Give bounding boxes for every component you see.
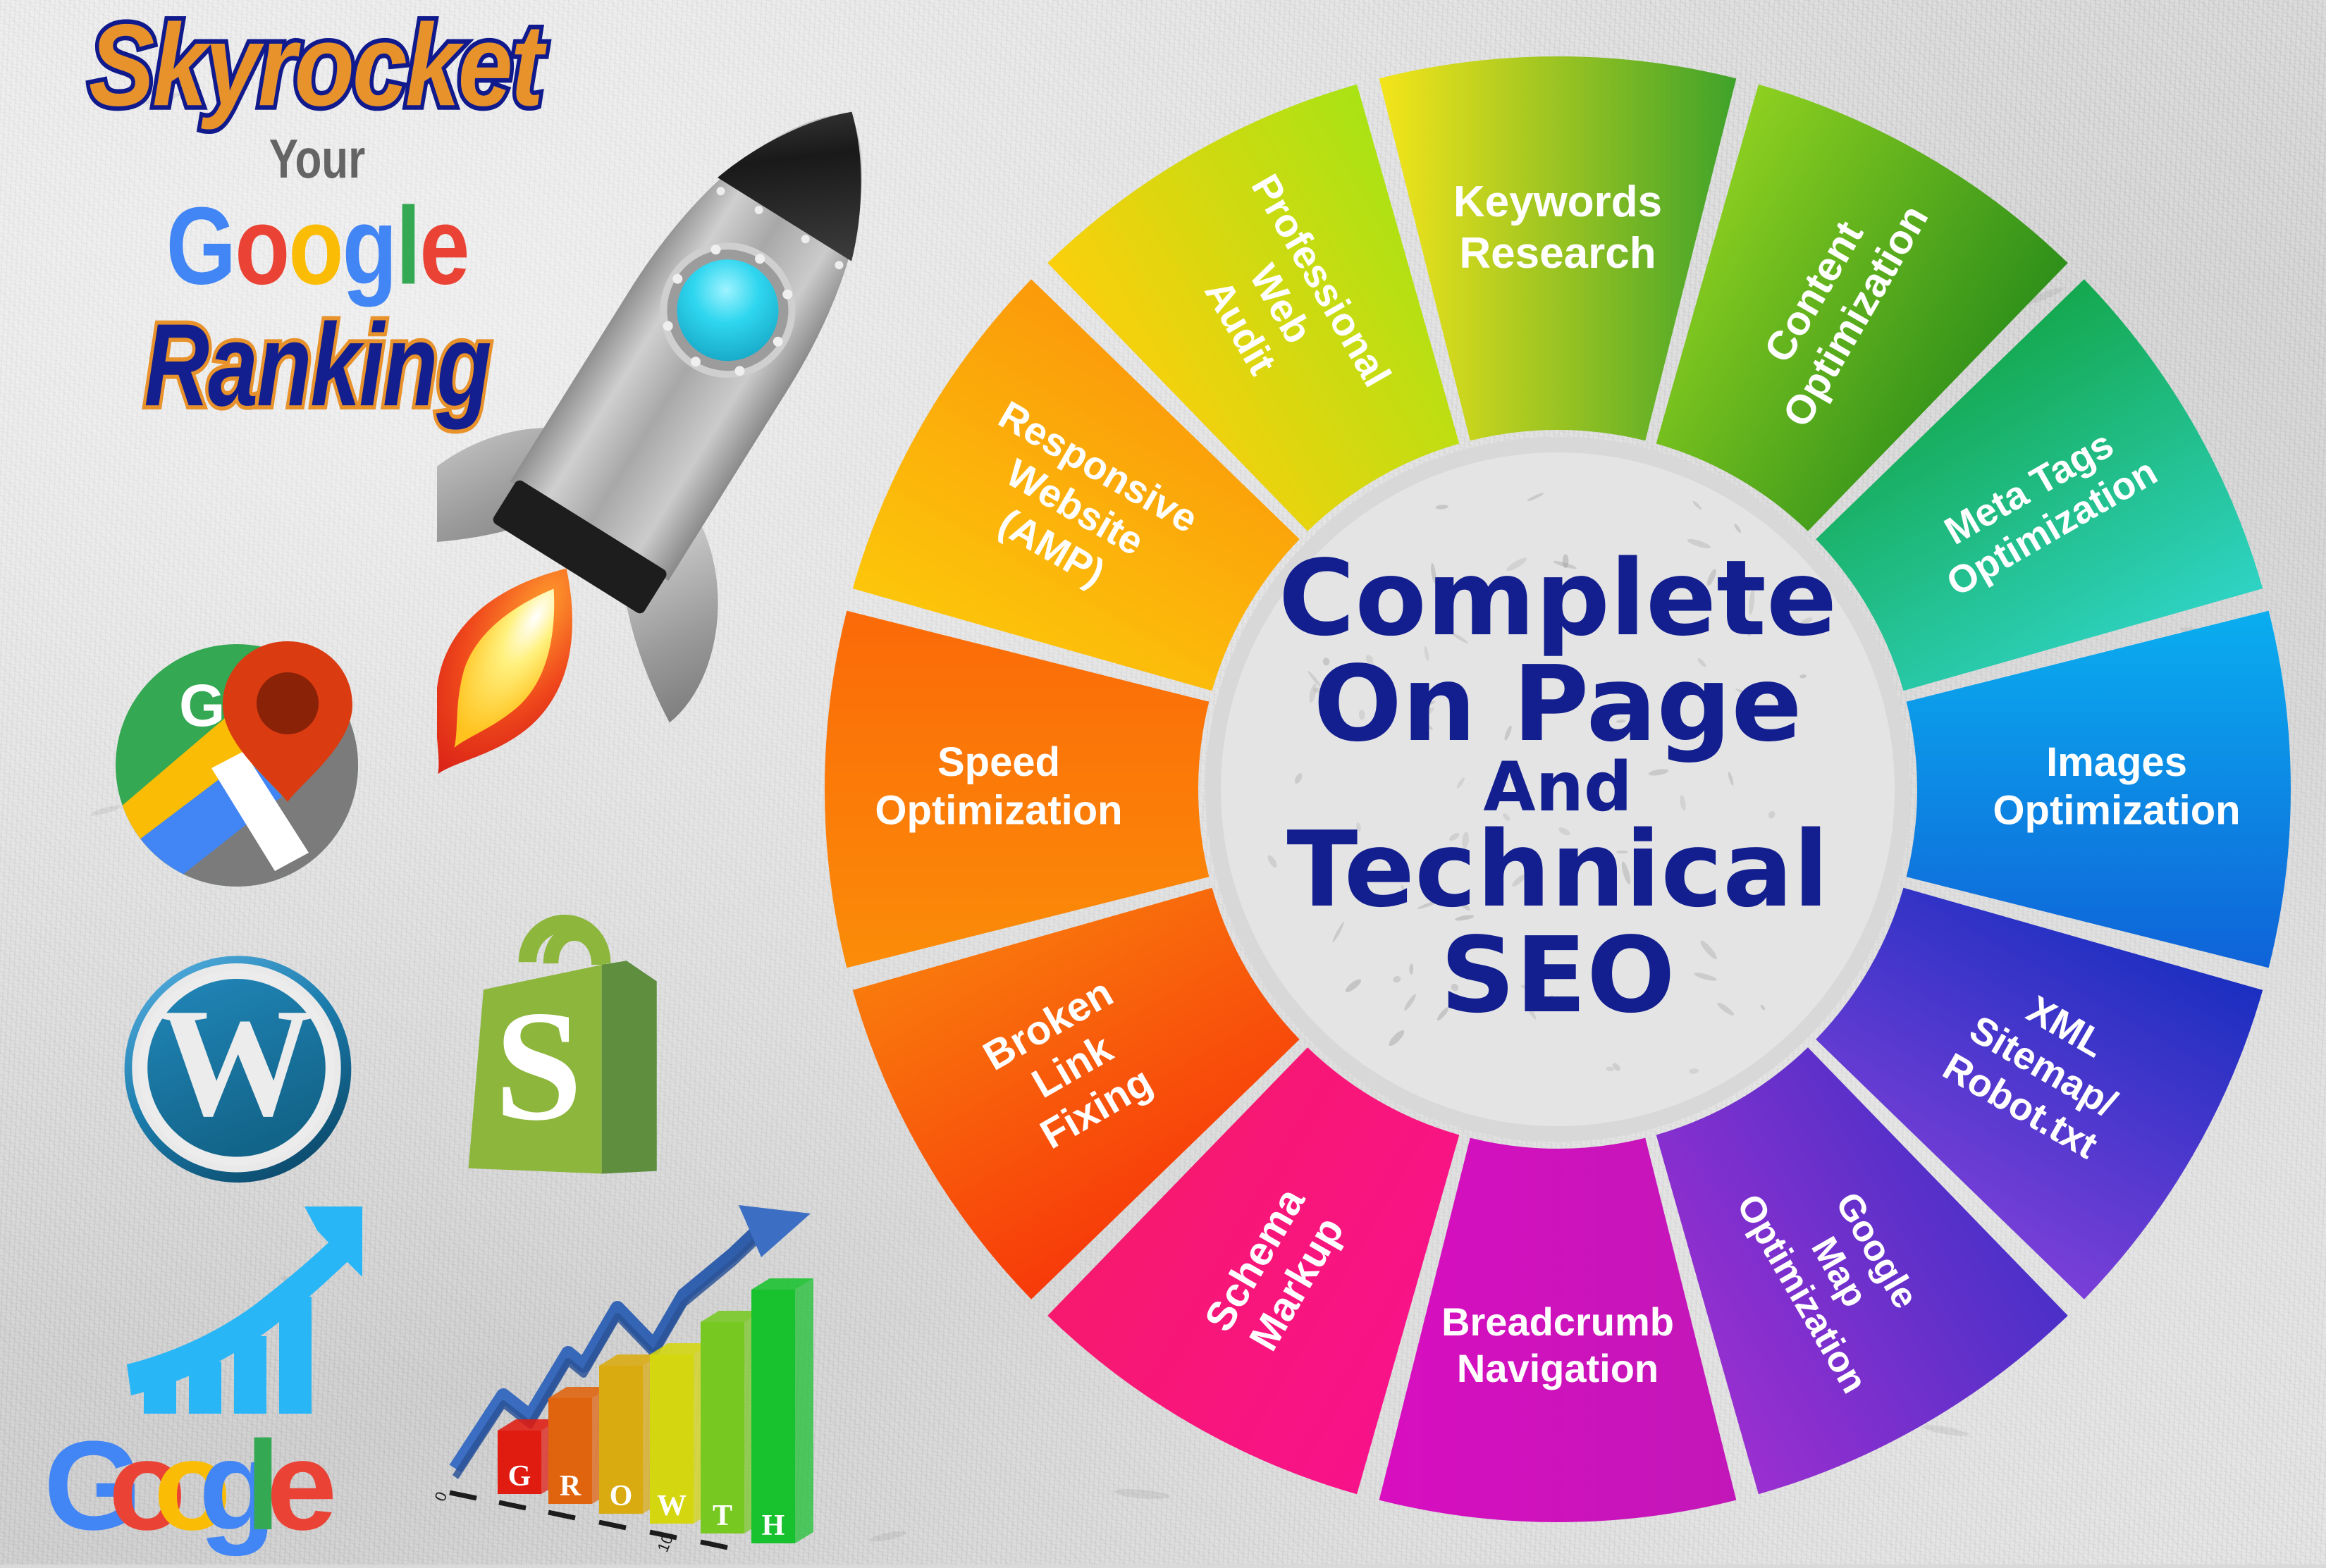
growth-bar: H	[751, 1278, 813, 1543]
google-letter: e	[266, 1415, 337, 1557]
google-wordmark: Google	[44, 1415, 337, 1557]
growth-bar-letter: G	[508, 1460, 531, 1493]
seo-wheel[interactable]: KeywordsResearchContentOptimizationMeta …	[807, 18, 2308, 1561]
growth-bars-group: GROWTH	[498, 1278, 813, 1543]
headline-google-letter: o	[235, 192, 288, 302]
gmaps-pin-hole	[257, 672, 319, 734]
wheel-segment-label-line: Images	[2046, 739, 2187, 785]
growth-bar-letter: R	[560, 1470, 581, 1502]
shopify-icon: S	[430, 909, 705, 1191]
wheel-segment-label-line: Speed	[937, 739, 1060, 785]
growth-bar-letter: T	[713, 1500, 732, 1532]
growth-bar-letter: O	[610, 1480, 633, 1512]
wordpress-w-letter: W	[159, 977, 314, 1149]
wheel-segment-label-line: Breadcrumb	[1441, 1300, 1674, 1344]
shopify-bag-side	[602, 961, 657, 1173]
growth-bar-letter: H	[762, 1510, 785, 1542]
gmaps-g-letter: G	[179, 672, 225, 739]
headline-google-letter: l	[396, 192, 420, 302]
shopify-s-letter: S	[495, 978, 583, 1154]
headline-google-letter: g	[343, 192, 396, 302]
shopify-handle-right	[551, 933, 599, 965]
growth-bar-letter: W	[657, 1490, 687, 1522]
growth-axis-label-0: 0	[431, 1489, 450, 1504]
wheel-segment-label-line: Research	[1459, 229, 1656, 278]
wheel-segment-label-line: Optimization	[1993, 788, 2240, 834]
hub-title-line: Complete	[1279, 538, 1838, 659]
growth-bar-chart: 0 10 GROWTH	[430, 1184, 825, 1568]
hub-title-line: SEO	[1440, 915, 1675, 1036]
headline-google-letter: o	[288, 192, 342, 302]
google-growth-logo: Google	[28, 1198, 465, 1564]
hub-title-line: On Page	[1313, 643, 1802, 765]
wheel-segment-label-line: Keywords	[1453, 178, 1662, 226]
wordpress-icon: W	[113, 937, 388, 1212]
hub-title-line: Technical	[1286, 809, 1828, 930]
headline-google-letter: G	[166, 192, 235, 302]
wheel-segment-label-line: Optimization	[875, 788, 1122, 834]
google-maps-icon: G	[106, 620, 388, 902]
wheel-segment-label-line: Navigation	[1457, 1346, 1659, 1390]
